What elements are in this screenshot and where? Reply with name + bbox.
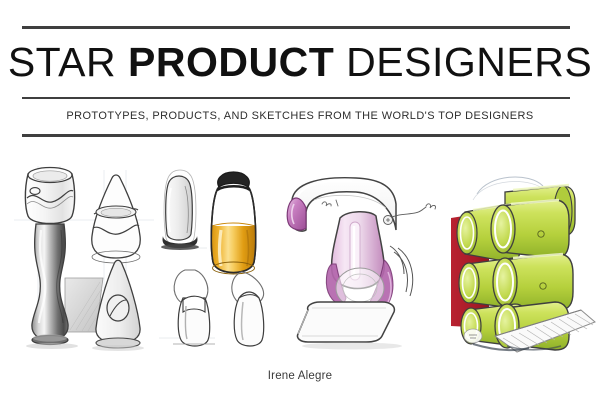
vessels-sketch [8,160,160,355]
lamp-sketch [278,160,443,355]
title-word-product: PRODUCT [128,39,334,85]
title-word-designers: DESIGNERS [346,39,592,85]
illustration-band [0,160,600,355]
title-word-star: STAR [8,39,116,85]
divider-rule-middle [22,97,570,99]
subtitle: PROTOTYPES, PRODUCTS, AND SKETCHES FROM … [9,104,591,128]
book-cover: STAR PRODUCT DESIGNERS PROTOTYPES, PRODU… [0,0,600,400]
cylinders-sketch [443,160,598,355]
divider-rule-bottom [22,134,570,137]
page-title: STAR PRODUCT DESIGNERS [0,36,600,88]
author-credit: Irene Alegre [0,370,600,382]
divider-rule-top [22,26,570,29]
bottles-sketch [155,160,277,355]
